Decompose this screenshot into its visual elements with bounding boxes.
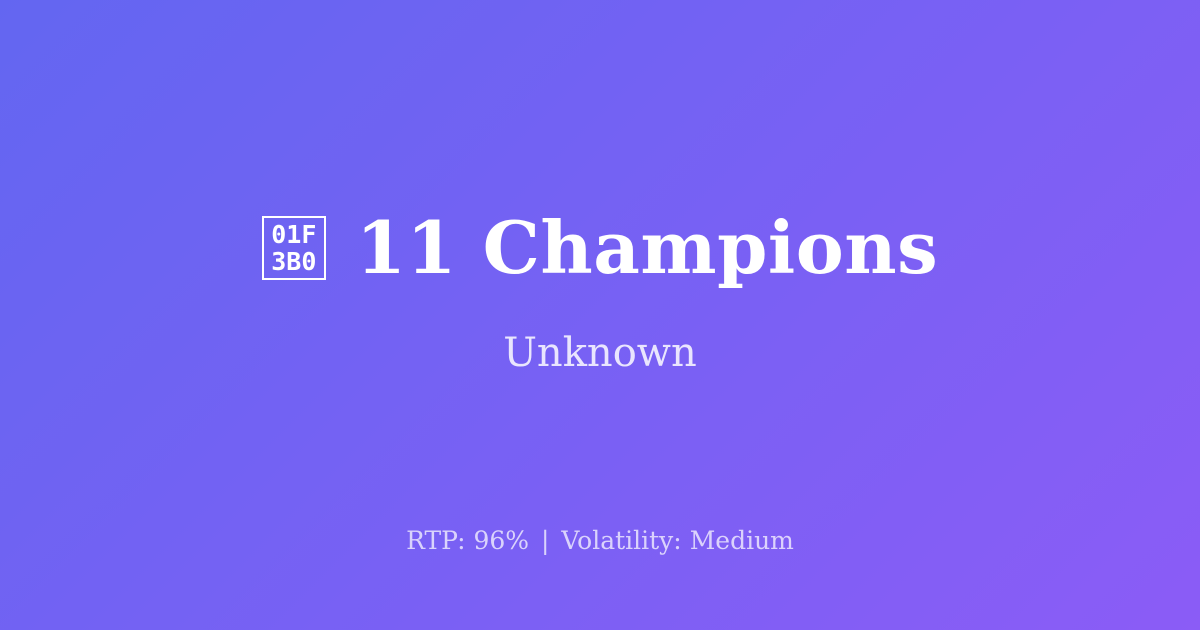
- game-stats: RTP: 96% | Volatility: Medium: [0, 526, 1200, 555]
- game-provider: Unknown: [503, 330, 697, 376]
- game-title: 11 Champions: [356, 212, 938, 284]
- title-row: 01F 3B0 11 Champions: [262, 212, 938, 284]
- slot-machine-icon: 01F 3B0: [262, 216, 326, 280]
- rtp-label: RTP:: [406, 526, 465, 555]
- stats-separator: |: [537, 526, 553, 555]
- rtp-value: 96%: [473, 526, 529, 555]
- volatility-label: Volatility:: [561, 526, 681, 555]
- slot-machine-icon-codepoint-top: 01F: [271, 221, 316, 248]
- volatility-value: Medium: [690, 526, 794, 555]
- og-share-card: 01F 3B0 11 Champions Unknown RTP: 96% | …: [0, 0, 1200, 630]
- slot-machine-icon-codepoint-bottom: 3B0: [271, 248, 316, 275]
